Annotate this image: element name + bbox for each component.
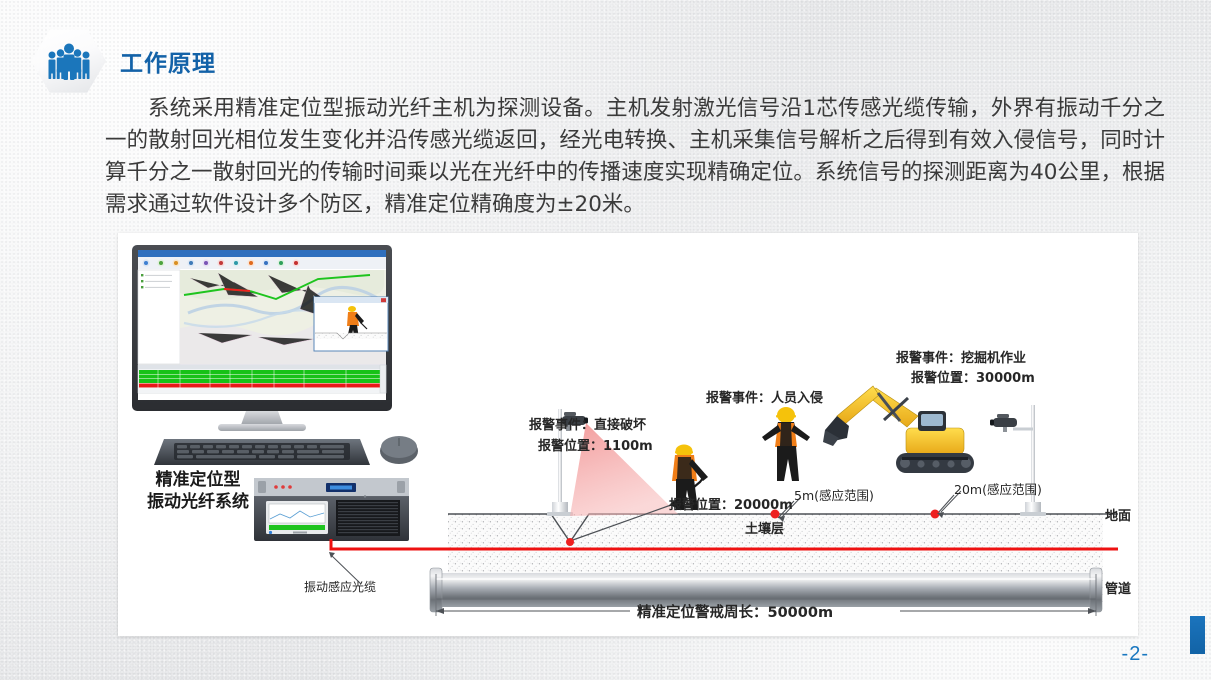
alarm-1-event: 报警事件：直接破坏 bbox=[529, 414, 646, 433]
device-label: 精准定位型 振动光纤系统 bbox=[134, 469, 262, 513]
keyboard-icon bbox=[154, 439, 370, 465]
cable-label: 振动感应光缆 bbox=[304, 578, 376, 595]
alarm-table bbox=[138, 365, 386, 393]
soil-label: 土壤层 bbox=[745, 518, 784, 537]
alarm-2-position: 报警位置：20000m bbox=[669, 494, 793, 513]
ground-label: 地面 bbox=[1105, 505, 1131, 524]
map-view bbox=[180, 270, 388, 366]
body-paragraph: 系统采用精准定位型振动光纤主机为探测设备。主机发射激光信号沿1芯传感光缆传输，外… bbox=[105, 93, 1165, 221]
figure-panel: 精准定位型 振动光纤系统 振动感应光缆 报警事件：直接破坏 报警位置：1100m… bbox=[118, 233, 1138, 636]
device-label-line2: 振动光纤系统 bbox=[134, 491, 262, 513]
people-group-icon bbox=[44, 42, 94, 80]
perimeter-label: 精准定位警戒周长：50000m bbox=[637, 601, 833, 622]
person-intrusion-icon bbox=[762, 407, 810, 481]
mouse-icon bbox=[380, 436, 418, 464]
hexagon-badge bbox=[31, 28, 106, 94]
alarm-3-range: 20m(感应范围) bbox=[954, 479, 1042, 498]
alarm-dot-1 bbox=[566, 538, 574, 546]
right-edge-accent-bar bbox=[1190, 616, 1205, 654]
alarm-2-event: 报警事件：人员入侵 bbox=[706, 387, 823, 406]
alarm-3-event: 报警事件：挖掘机作业 bbox=[896, 347, 1026, 366]
camera-pole-right bbox=[990, 405, 1046, 516]
excavator-icon bbox=[823, 386, 974, 473]
pipe-label: 管道 bbox=[1105, 578, 1131, 597]
page-title: 工作原理 bbox=[120, 44, 216, 78]
alarm-3-position: 报警位置：30000m bbox=[911, 367, 1035, 386]
device-label-line1: 精准定位型 bbox=[134, 469, 262, 491]
alarm-1-position: 报警位置：1100m bbox=[538, 435, 653, 454]
page-number: -2- bbox=[1122, 643, 1149, 666]
alarm-2-range: 5m(感应范围) bbox=[794, 485, 874, 504]
cctv-camera-icon bbox=[990, 414, 1017, 432]
fiber-host-rack-icon bbox=[254, 478, 409, 541]
